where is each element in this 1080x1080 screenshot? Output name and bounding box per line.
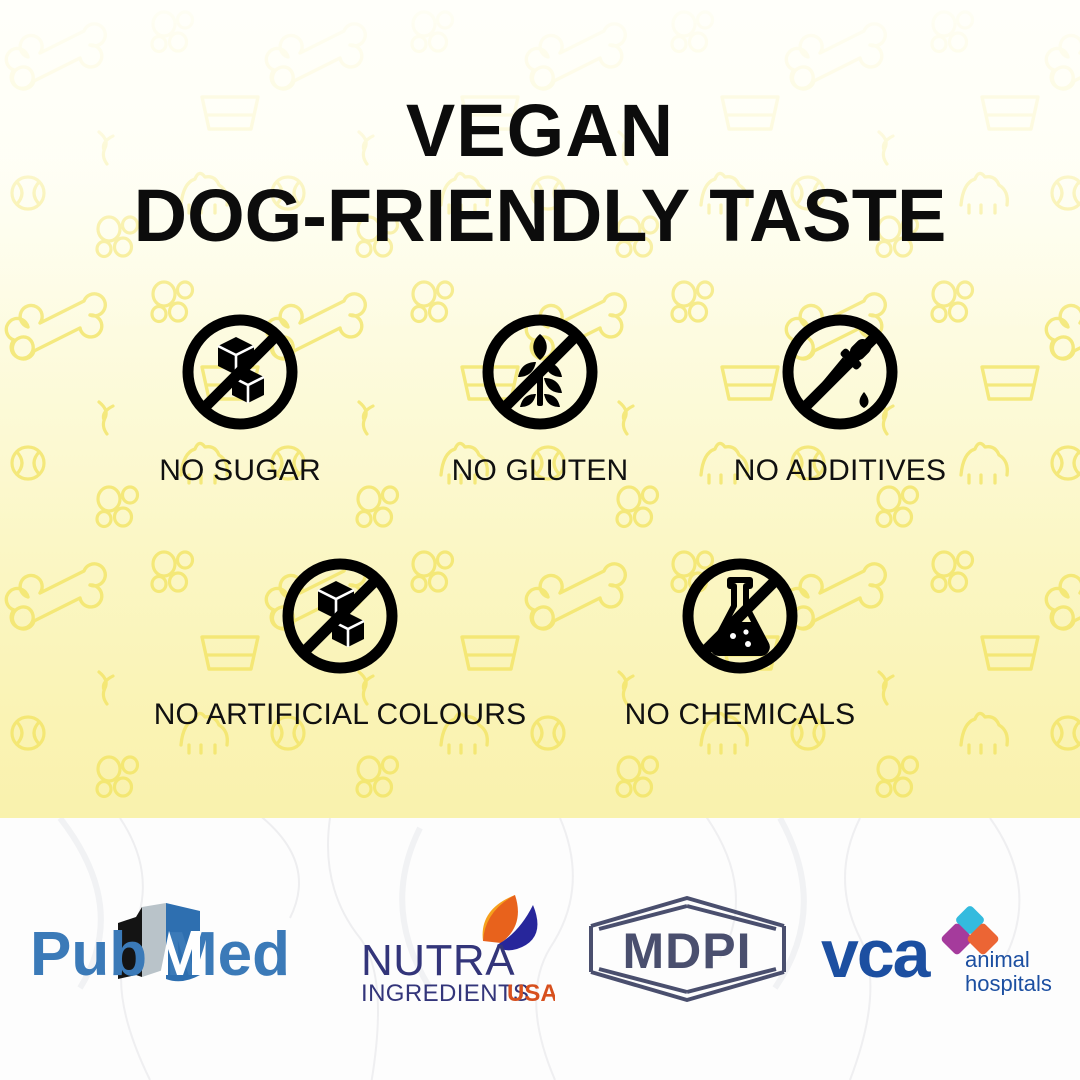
- title-line-1: VEGAN: [0, 95, 1080, 168]
- logo-strip: Pub Med NUTRA INGREDIENTS USA: [0, 818, 1080, 1080]
- no-sugar-cubes-icon: [176, 308, 304, 436]
- no-chemicals-flask-icon: [676, 552, 804, 680]
- badge-no-gluten: NO GLUTEN: [390, 308, 690, 488]
- svg-text:INGREDIENTS: INGREDIENTS: [361, 980, 529, 1007]
- svg-text:USA: USA: [507, 980, 555, 1007]
- badge-label: NO GLUTEN: [452, 454, 629, 488]
- benefit-row-1: NO SUGAR: [0, 308, 1080, 488]
- hero-panel: VEGAN DOG-FRIENDLY TASTE: [0, 0, 1080, 818]
- press-logo-bar: Pub Med NUTRA INGREDIENTS USA: [0, 818, 1080, 1080]
- svg-text:vca: vca: [821, 916, 932, 992]
- badge-no-artificial-colours: NO ARTIFICIAL COLOURS: [140, 552, 540, 732]
- badge-no-additives: NO ADDITIVES: [690, 308, 990, 488]
- svg-text:hospitals: hospitals: [965, 971, 1052, 995]
- no-artificial-colours-cubes-icon: [276, 552, 404, 680]
- svg-text:Pub: Pub: [30, 920, 147, 989]
- vca-logo[interactable]: vca animal hospitals: [819, 903, 1054, 995]
- benefit-row-2: NO ARTIFICIAL COLOURS: [0, 552, 1080, 732]
- page-title: VEGAN DOG-FRIENDLY TASTE: [0, 95, 1080, 252]
- svg-text:NUTRA: NUTRA: [361, 936, 515, 985]
- badge-label: NO ADDITIVES: [734, 454, 946, 488]
- badge-no-chemicals: NO CHEMICALS: [540, 552, 940, 732]
- pubmed-logo[interactable]: Pub Med: [26, 901, 326, 997]
- svg-text:animal: animal: [965, 947, 1030, 972]
- badge-label: NO SUGAR: [159, 454, 321, 488]
- promo-graphic: VEGAN DOG-FRIENDLY TASTE: [0, 0, 1080, 1080]
- nutraingredients-logo[interactable]: NUTRA INGREDIENTS USA: [355, 889, 555, 1009]
- svg-text:MDPI: MDPI: [622, 923, 751, 979]
- badge-label: NO ARTIFICIAL COLOURS: [154, 698, 527, 732]
- mdpi-logo[interactable]: MDPI: [585, 896, 790, 1002]
- badge-label: NO CHEMICALS: [625, 698, 856, 732]
- badge-no-sugar: NO SUGAR: [90, 308, 390, 488]
- no-additives-dropper-icon: [776, 308, 904, 436]
- no-gluten-wheat-icon: [476, 308, 604, 436]
- title-line-2: DOG-FRIENDLY TASTE: [0, 180, 1080, 253]
